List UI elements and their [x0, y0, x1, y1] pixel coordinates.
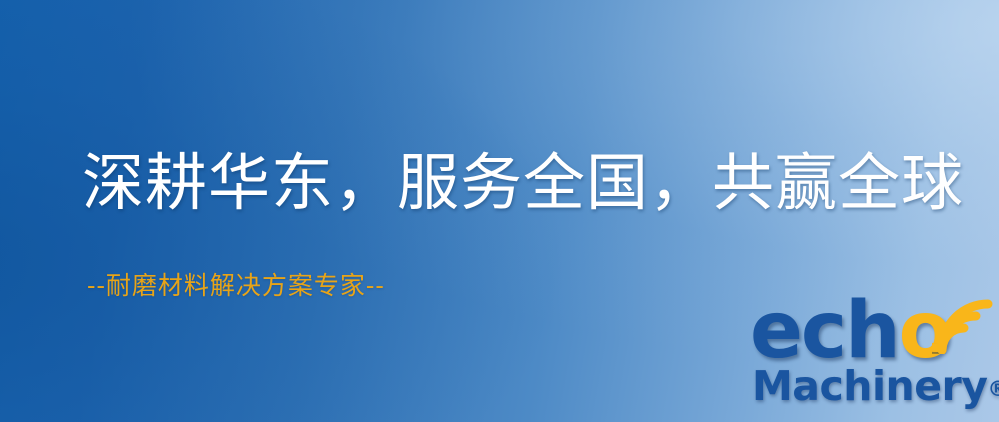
signal-waves-icon — [932, 288, 999, 354]
logo-tagline-text: Machinery — [752, 362, 987, 410]
company-logo[interactable]: echo — [742, 292, 999, 420]
banner-subtitle: --耐磨材料解决方案专家-- — [87, 266, 385, 302]
logo-tagline: Machinery® — [752, 366, 999, 410]
registered-trademark-icon: ® — [987, 377, 999, 401]
promo-banner: 深耕华东，服务全国，共赢全球 --耐磨材料解决方案专家-- echo — [0, 0, 999, 422]
banner-headline: 深耕华东，服务全国，共赢全球 — [82, 151, 964, 214]
logo-wordmark: echo — [750, 292, 950, 370]
